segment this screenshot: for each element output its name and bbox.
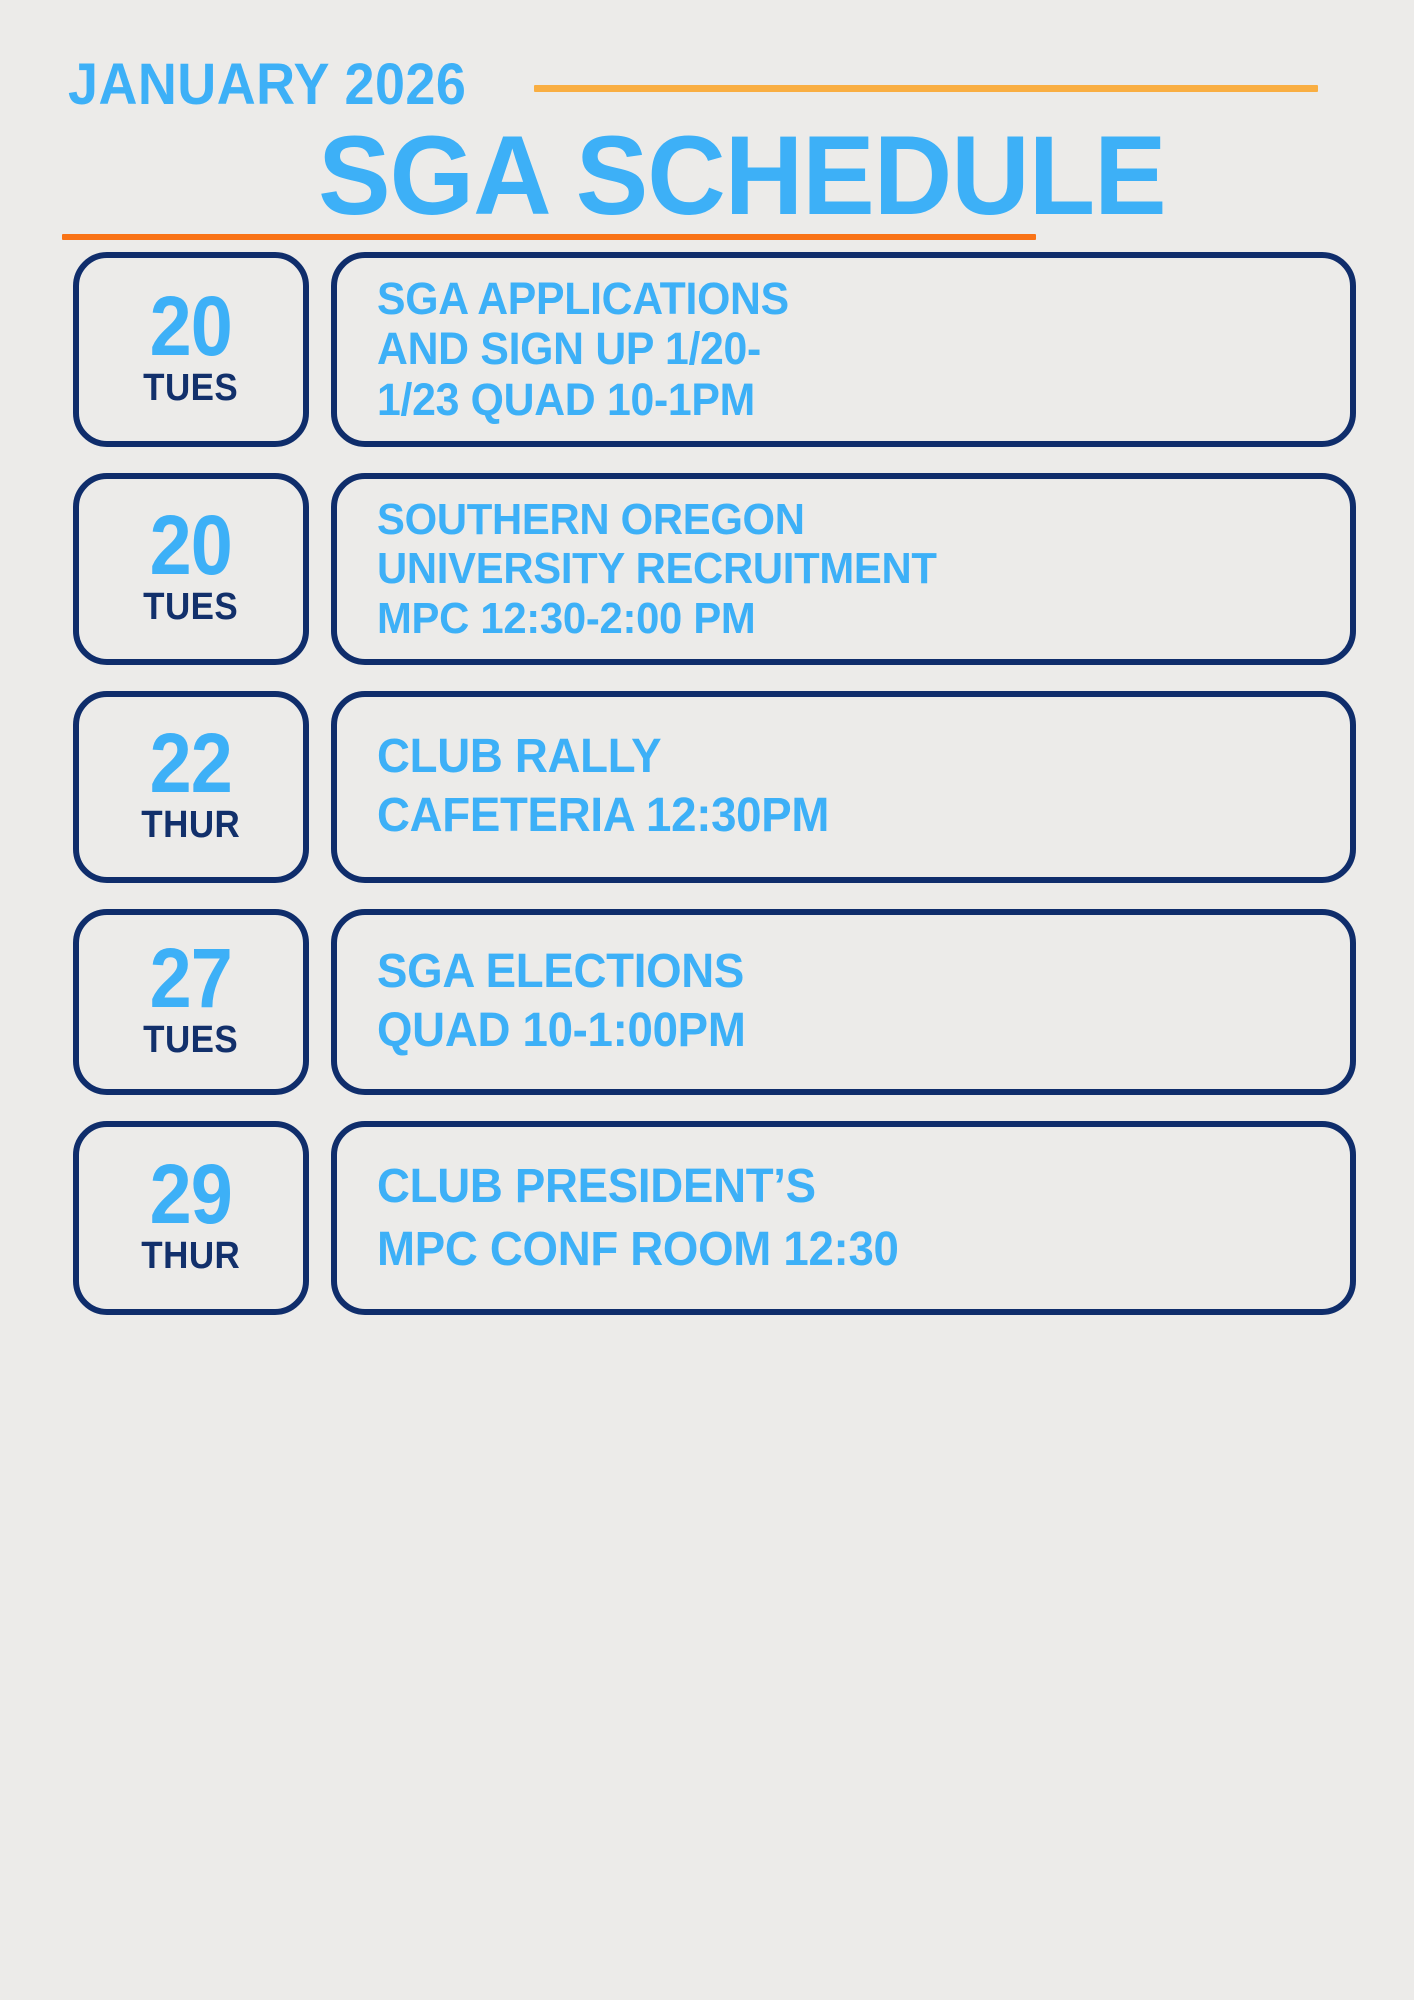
event-detail-line: MPC CONF ROOM 12:30 [377,1218,1277,1281]
event-detail-box[interactable]: CLUB PRESIDENT’SMPC CONF ROOM 12:30 [331,1121,1356,1315]
event-date-number: 20 [150,506,232,586]
month-divider-rule [534,85,1318,92]
event-row[interactable]: 29THURCLUB PRESIDENT’SMPC CONF ROOM 12:3… [0,1121,1414,1315]
event-detail-line: SOUTHERN OREGON [377,495,1277,544]
event-date-number: 22 [150,724,232,804]
event-date-box[interactable]: 20TUES [73,252,309,447]
event-date-box[interactable]: 29THUR [73,1121,309,1315]
event-day-name: TUES [143,369,238,409]
month-row: JANUARY 2026 [68,52,1318,118]
event-detail-line: CLUB RALLY [377,728,1277,787]
event-date-box[interactable]: 22THUR [73,691,309,883]
month-label: JANUARY 2026 [68,56,466,114]
event-detail-line: AND SIGN UP 1/20- [377,324,1277,374]
event-date-number: 20 [150,287,232,367]
event-detail-box[interactable]: SGA APPLICATIONSAND SIGN UP 1/20-1/23 QU… [331,252,1356,447]
event-detail-line: CLUB PRESIDENT’S [377,1155,1277,1218]
event-detail-line: CAFETERIA 12:30PM [377,787,1277,846]
event-detail-line: SGA APPLICATIONS [377,274,1277,324]
event-row[interactable]: 20TUESSOUTHERN OREGONUNIVERSITY RECRUITM… [0,473,1414,665]
event-detail-line: MPC 12:30-2:00 PM [377,594,1277,643]
schedule-list: 20TUESSGA APPLICATIONSAND SIGN UP 1/20-1… [0,252,1414,1341]
page-title: SGA SCHEDULE [318,120,1166,232]
event-detail-line: 1/23 QUAD 10-1PM [377,375,1277,425]
event-detail-line: UNIVERSITY RECRUITMENT [377,544,1277,593]
event-detail-box[interactable]: CLUB RALLYCAFETERIA 12:30PM [331,691,1356,883]
event-date-number: 29 [150,1155,232,1235]
event-day-name: THUR [142,1237,241,1277]
event-day-name: THUR [142,806,241,846]
event-day-name: TUES [143,1021,238,1061]
event-row[interactable]: 20TUESSGA APPLICATIONSAND SIGN UP 1/20-1… [0,252,1414,447]
title-divider-rule [62,234,1036,240]
event-detail-line: QUAD 10-1:00PM [377,1002,1277,1061]
event-detail-box[interactable]: SGA ELECTIONSQUAD 10-1:00PM [331,909,1356,1095]
event-detail-line: SGA ELECTIONS [377,943,1277,1002]
schedule-poster: JANUARY 2026 SGA SCHEDULE 20TUESSGA APPL… [0,0,1414,2000]
event-row[interactable]: 27TUESSGA ELECTIONSQUAD 10-1:00PM [0,909,1414,1095]
event-date-box[interactable]: 27TUES [73,909,309,1095]
event-day-name: TUES [143,588,238,628]
event-date-box[interactable]: 20TUES [73,473,309,665]
event-detail-box[interactable]: SOUTHERN OREGONUNIVERSITY RECRUITMENTMPC… [331,473,1356,665]
event-row[interactable]: 22THURCLUB RALLYCAFETERIA 12:30PM [0,691,1414,883]
title-wrap: SGA SCHEDULE [0,120,1414,232]
event-date-number: 27 [150,939,232,1019]
